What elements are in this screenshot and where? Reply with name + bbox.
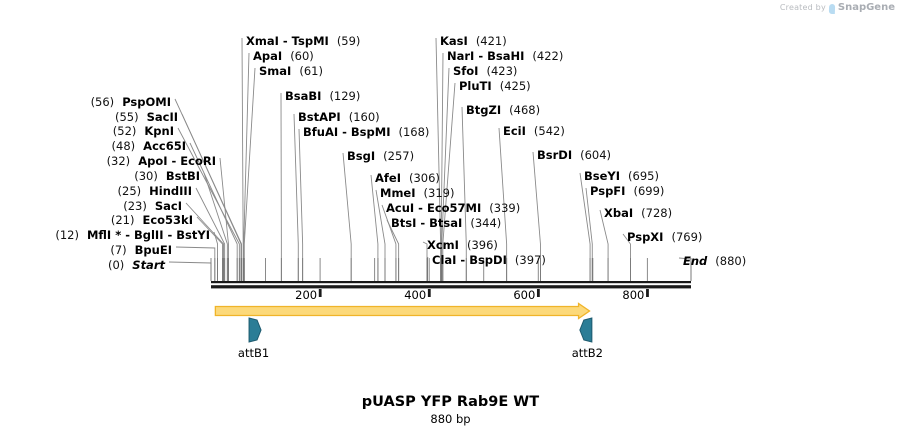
enzyme-site-name: BstBI xyxy=(166,169,200,183)
enzyme-site-label: (52) KpnI xyxy=(113,125,174,137)
axis-tick-label: 200 xyxy=(295,288,317,302)
enzyme-site-label: BsgI (257) xyxy=(347,150,414,162)
enzyme-site-label: BtgZI (468) xyxy=(466,104,540,116)
enzyme-site-position: (25) xyxy=(118,184,142,198)
enzyme-site-position: (695) xyxy=(628,169,659,183)
enzyme-site-label: BtsI - BtsaI (344) xyxy=(391,217,501,229)
enzyme-site-label: ClaI - BspDI (397) xyxy=(432,254,546,266)
enzyme-site-name: Eco53kI xyxy=(142,213,193,227)
enzyme-site-name: BsgI xyxy=(347,149,375,163)
enzyme-site-position: (56) xyxy=(91,95,115,109)
enzyme-site-name: AfeI xyxy=(375,171,401,185)
enzyme-site-position: (55) xyxy=(115,110,139,124)
enzyme-site-position: (423) xyxy=(486,64,517,78)
enzyme-site-label: (21) Eco53kI xyxy=(111,214,193,226)
feature-label-attB2: attB2 xyxy=(572,346,603,360)
enzyme-site-name: BstAPI xyxy=(298,110,341,124)
enzyme-site-name: PspOMI xyxy=(122,95,171,109)
enzyme-site-name: BsaBI xyxy=(285,89,321,103)
enzyme-site-label: EciI (542) xyxy=(503,125,565,137)
enzyme-site-name: BsrDI xyxy=(537,148,572,162)
enzyme-site-label: (12) MflI * - BglII - BstYI xyxy=(55,229,210,241)
enzyme-site-name: MmeI xyxy=(380,186,416,200)
enzyme-site-label: BfuAI - BspMI (168) xyxy=(303,126,429,138)
enzyme-site-name: ApoI - EcoRI xyxy=(138,154,216,168)
enzyme-site-name: SacII xyxy=(147,110,178,124)
enzyme-site-position: (59) xyxy=(337,34,361,48)
enzyme-site-label: ApaI (60) xyxy=(253,50,314,62)
enzyme-site-name: End xyxy=(683,254,707,268)
axis-tick-label: 400 xyxy=(404,288,426,302)
enzyme-site-position: (257) xyxy=(383,149,414,163)
enzyme-site-position: (542) xyxy=(534,124,565,138)
enzyme-site-label: PluTI (425) xyxy=(459,80,531,92)
enzyme-site-position: (12) xyxy=(55,228,79,242)
enzyme-site-name: SfoI xyxy=(453,64,478,78)
enzyme-site-label: KasI (421) xyxy=(440,35,507,47)
enzyme-site-label: (0) Start xyxy=(108,259,165,271)
enzyme-site-name: BfuAI - BspMI xyxy=(303,125,390,139)
enzyme-site-name: ClaI - BspDI xyxy=(432,253,507,267)
enzyme-site-position: (306) xyxy=(409,171,440,185)
enzyme-site-position: (32) xyxy=(107,154,131,168)
enzyme-site-label: (55) SacII xyxy=(115,111,178,123)
enzyme-site-name: XcmI xyxy=(427,238,459,252)
enzyme-site-position: (160) xyxy=(349,110,380,124)
enzyme-site-name: NarI - BsaHI xyxy=(447,49,524,63)
enzyme-site-label: MmeI (319) xyxy=(380,187,454,199)
enzyme-site-position: (339) xyxy=(489,201,520,215)
enzyme-site-label: (23) SacI xyxy=(123,200,182,212)
enzyme-site-position: (0) xyxy=(108,258,124,272)
enzyme-site-label: BseYI (695) xyxy=(584,170,659,182)
enzyme-site-label: BsrDI (604) xyxy=(537,149,611,161)
enzyme-site-name: Acc65I xyxy=(143,139,186,153)
enzyme-site-label: End (880) xyxy=(683,255,746,267)
enzyme-site-label: (25) HindIII xyxy=(118,185,192,197)
enzyme-site-label: PspXI (769) xyxy=(627,231,702,243)
enzyme-site-name: AcuI - Eco57MI xyxy=(386,201,481,215)
enzyme-site-label: (32) ApoI - EcoRI xyxy=(107,155,216,167)
enzyme-site-position: (422) xyxy=(532,49,563,63)
enzyme-site-label: (30) BstBI xyxy=(134,170,200,182)
enzyme-site-label: AcuI - Eco57MI (339) xyxy=(386,202,520,214)
enzyme-site-position: (129) xyxy=(329,89,360,103)
enzyme-site-position: (23) xyxy=(123,199,147,213)
enzyme-site-name: ApaI xyxy=(253,49,282,63)
enzyme-site-name: BpuEI xyxy=(135,243,172,257)
enzyme-site-position: (344) xyxy=(470,216,501,230)
enzyme-site-label: XmaI - TspMI (59) xyxy=(246,35,360,47)
axis-tick-label: 800 xyxy=(622,288,644,302)
enzyme-site-name: KasI xyxy=(440,34,468,48)
enzyme-site-position: (52) xyxy=(113,124,137,138)
enzyme-site-label: SmaI (61) xyxy=(259,65,323,77)
enzyme-site-name: SmaI xyxy=(259,64,291,78)
enzyme-site-position: (880) xyxy=(715,254,746,268)
construct-size: 880 bp xyxy=(0,412,901,426)
enzyme-site-position: (468) xyxy=(509,103,540,117)
enzyme-site-position: (319) xyxy=(424,186,455,200)
enzyme-site-position: (397) xyxy=(515,253,546,267)
enzyme-site-name: BtgZI xyxy=(466,103,501,117)
page-title: pUASP YFP Rab9E WT xyxy=(0,394,901,410)
enzyme-site-position: (48) xyxy=(112,139,136,153)
enzyme-site-label: (48) Acc65I xyxy=(112,140,186,152)
enzyme-site-position: (699) xyxy=(633,184,664,198)
enzyme-site-name: EciI xyxy=(503,124,526,138)
enzyme-site-label: XbaI (728) xyxy=(604,207,672,219)
enzyme-site-name: PluTI xyxy=(459,79,492,93)
enzyme-site-name: XbaI xyxy=(604,206,633,220)
enzyme-site-position: (421) xyxy=(476,34,507,48)
enzyme-site-label: SfoI (423) xyxy=(453,65,517,77)
enzyme-site-position: (604) xyxy=(580,148,611,162)
enzyme-site-name: HindIII xyxy=(149,184,192,198)
plasmid-map: Created by SnapGene (56) PspOMI(55) SacI… xyxy=(0,0,901,434)
enzyme-site-position: (60) xyxy=(290,49,314,63)
enzyme-site-name: Start xyxy=(132,258,165,272)
enzyme-site-name: MflI * - BglII - BstYI xyxy=(87,228,210,242)
enzyme-site-position: (728) xyxy=(641,206,672,220)
enzyme-site-position: (396) xyxy=(467,238,498,252)
enzyme-site-name: PspFI xyxy=(590,184,625,198)
enzyme-site-label: BstAPI (160) xyxy=(298,111,380,123)
enzyme-site-label: XcmI (396) xyxy=(427,239,498,251)
feature-label-attB1: attB1 xyxy=(238,346,269,360)
enzyme-site-position: (61) xyxy=(299,64,323,78)
enzyme-site-label: BsaBI (129) xyxy=(285,90,360,102)
enzyme-site-name: PspXI xyxy=(627,230,663,244)
enzyme-site-label: (7) BpuEI xyxy=(110,244,172,256)
enzyme-site-name: KpnI xyxy=(144,124,174,138)
enzyme-site-label: (56) PspOMI xyxy=(91,96,171,108)
enzyme-site-label: AfeI (306) xyxy=(375,172,440,184)
enzyme-site-position: (30) xyxy=(134,169,158,183)
enzyme-site-label: NarI - BsaHI (422) xyxy=(447,50,563,62)
enzyme-site-position: (168) xyxy=(399,125,430,139)
enzyme-site-label: PspFI (699) xyxy=(590,185,664,197)
enzyme-site-name: BtsI - BtsaI xyxy=(391,216,462,230)
enzyme-site-position: (425) xyxy=(500,79,531,93)
enzyme-site-position: (769) xyxy=(671,230,702,244)
enzyme-site-position: (21) xyxy=(111,213,135,227)
enzyme-site-name: SacI xyxy=(155,199,182,213)
axis-tick-label: 600 xyxy=(513,288,535,302)
enzyme-site-name: BseYI xyxy=(584,169,620,183)
enzyme-site-name: XmaI - TspMI xyxy=(246,34,329,48)
enzyme-site-position: (7) xyxy=(110,243,126,257)
